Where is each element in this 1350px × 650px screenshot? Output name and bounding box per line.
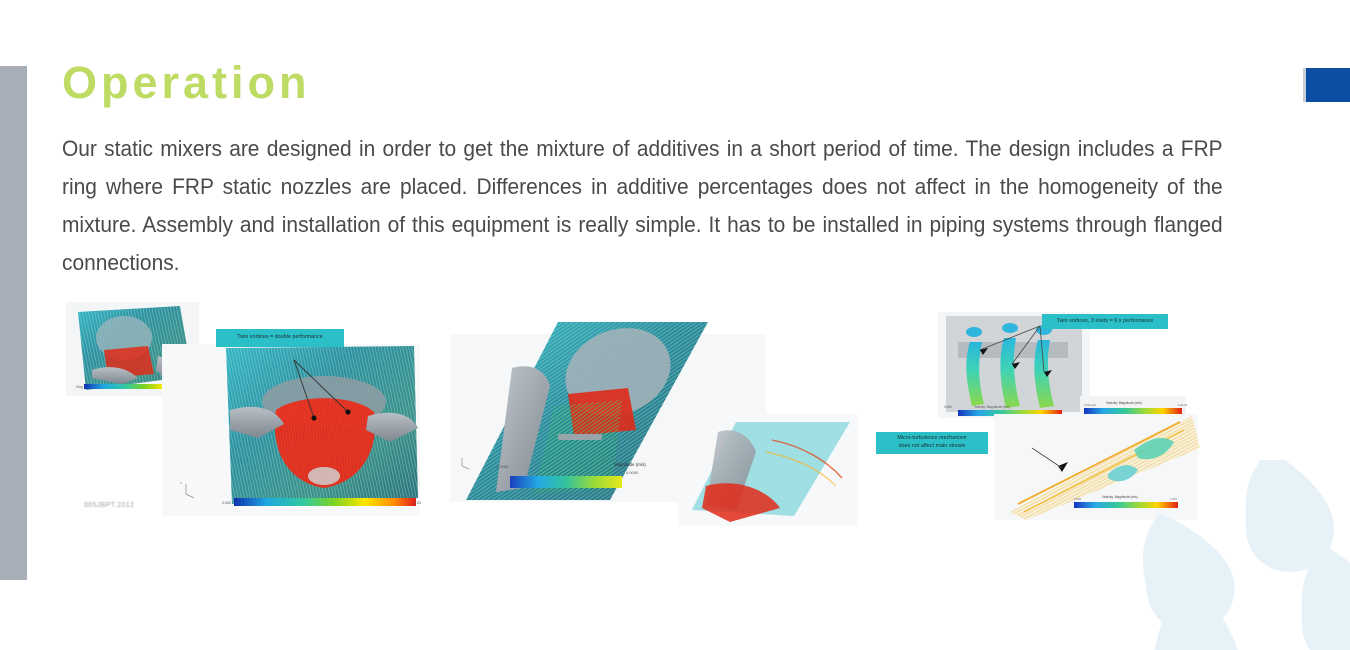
page-title: Operation: [62, 58, 311, 108]
figure-strip: Mag: [62, 298, 1222, 530]
svg-text:1.00: 1.00: [414, 501, 421, 505]
panel-micro-turbulence: Velocity: Magnitude (m/s) 0.000 1.607: [994, 414, 1200, 520]
svg-text:0.0000: 0.0000: [496, 464, 509, 469]
svg-text:Velocity: Magnitude (m/s): Velocity: Magnitude (m/s): [1106, 401, 1142, 405]
svg-text:1.8e-01: 1.8e-01: [1178, 403, 1188, 407]
body-paragraph: Our static mixers are designed in order …: [62, 130, 1223, 282]
svg-text:0.00e+00: 0.00e+00: [1084, 403, 1096, 407]
left-accent-bar: [0, 66, 27, 580]
svg-text:0.000: 0.000: [944, 405, 952, 409]
inset-panel-middle-right: [678, 414, 858, 526]
svg-text:4.0000: 4.0000: [626, 470, 639, 475]
svg-text:Velocity: Magnitude (m/s): Velocity: Magnitude (m/s): [1102, 495, 1138, 499]
svg-text:Magnitude (m/s): Magnitude (m/s): [614, 462, 646, 467]
slide-root: Operation Our static mixers are designed…: [0, 0, 1350, 650]
svg-text:z: z: [180, 480, 182, 485]
figure-middle-cfd: 0.0000 Magnitude (m/s) 4.0000: [450, 310, 860, 528]
figure-watermark: 005JBPT.2012: [84, 502, 134, 509]
figure-right-cfd: 0.000 Velocity: Magnitude (m/s) Velocity…: [862, 298, 1202, 524]
svg-text:Mag: Mag: [76, 385, 83, 389]
svg-text:1.607: 1.607: [1170, 497, 1177, 501]
callout-three-inlets: Twin vortices, 3 inlets = 6 x performanc…: [1042, 314, 1168, 329]
figure-left-cfd: Mag: [62, 298, 432, 530]
callout-twin-vortices: Twin vortices = double performance: [216, 329, 344, 347]
svg-text:Velocity: Magnitude (m/s): Velocity: Magnitude (m/s): [974, 405, 1010, 409]
svg-text:0.000: 0.000: [1074, 497, 1081, 501]
callout-micro-turbulence: Micro-turbulence mechanism does not affe…: [876, 432, 988, 454]
main-panel-left: 0.000 1.00: [162, 344, 421, 516]
blue-corner-marker: [1306, 68, 1350, 102]
svg-text:0.000: 0.000: [222, 501, 231, 505]
